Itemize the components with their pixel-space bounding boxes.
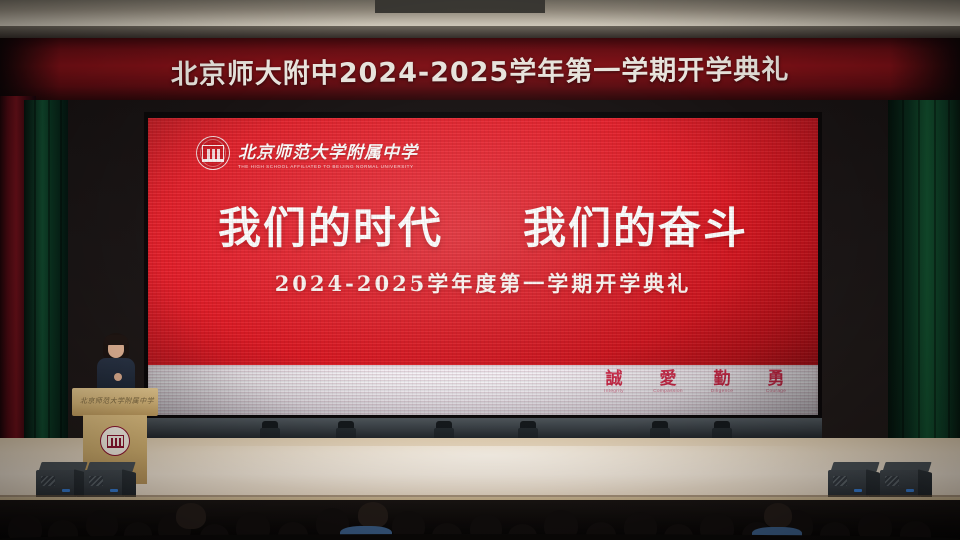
curtain-fold — [34, 100, 36, 485]
audience-head — [358, 502, 388, 528]
speaker-led-indicator — [62, 489, 70, 492]
crest-gate-icon — [202, 145, 224, 162]
motto-char: 誠 — [606, 371, 623, 388]
motto-label: Courage — [766, 389, 787, 394]
audience-rows — [0, 500, 960, 540]
speaker-grill — [885, 476, 899, 486]
speaker-grill — [41, 476, 55, 486]
school-name-cn: 北京师范大学附属中学 — [238, 138, 418, 163]
welcome-banner-inner: 北京师大附中2024-2025学年第一学期开学典礼 — [50, 41, 910, 98]
screen-white-band: 誠 Integrity 愛 Compassion 勤 Diligence 勇 C… — [148, 365, 818, 415]
speaker-led-indicator — [110, 489, 118, 492]
motto-label: Integrity — [604, 389, 624, 394]
presenter-fringe — [104, 335, 128, 345]
banner-shadow-right — [890, 38, 960, 100]
welcome-banner: 北京师大附中2024-2025学年第一学期开学典礼 — [0, 38, 960, 100]
motto-char: 勤 — [714, 371, 731, 388]
auditorium-stage-photo: 北京师大附中2024-2025学年第一学期开学典礼 北京师范大学附属中学 THE… — [0, 0, 960, 540]
school-crest-icon — [100, 426, 130, 456]
speaker-grill — [833, 476, 847, 486]
school-name-en: THE HIGH SCHOOL AFFILIATED TO BEIJING NO… — [238, 164, 418, 169]
presenter-hand — [114, 373, 122, 381]
curtain-fold — [948, 100, 950, 495]
curtain-fold — [918, 100, 920, 495]
speaker-led-indicator — [854, 489, 862, 492]
curtain-fold — [902, 100, 904, 495]
headline-part-2: 我们的奋斗 — [523, 204, 748, 254]
audience-row-shadow — [0, 534, 960, 540]
podium-calligraphy: 北京师范大学附属中学 — [80, 396, 150, 408]
motto-char: 勇 — [768, 371, 785, 388]
curtain-fold — [48, 100, 50, 485]
motto-label: Compassion — [653, 389, 683, 394]
motto-item: 勇 Courage — [759, 371, 793, 394]
ceiling-vent — [375, 0, 545, 13]
motto-item: 誠 Integrity — [597, 371, 631, 394]
banner-shadow-left — [0, 38, 60, 100]
screen-headline: 我们的时代 我们的奋斗 — [148, 194, 818, 256]
motto-label: Diligence — [711, 389, 733, 394]
curtain-fold — [60, 100, 62, 485]
curtain-green-left — [24, 100, 68, 485]
screen-school-logo: 北京师范大学附属中学 THE HIGH SCHOOL AFFILIATED TO… — [196, 136, 418, 170]
school-motto: 誠 Integrity 愛 Compassion 勤 Diligence 勇 C… — [597, 371, 793, 394]
school-crest-icon — [196, 136, 230, 170]
screen-subtitle: 2024-2025学年度第一学期开学典礼 — [148, 268, 818, 298]
speaker-led-indicator — [906, 489, 914, 492]
headline-part-1: 我们的时代 — [218, 204, 443, 254]
audience-head — [764, 503, 792, 528]
curtain-fold — [934, 100, 936, 495]
school-logo-words: 北京师范大学附属中学 THE HIGH SCHOOL AFFILIATED TO… — [238, 138, 418, 169]
podium-top: 北京师范大学附属中学 — [72, 388, 158, 416]
speaker-grill — [89, 476, 103, 486]
curtain-green-right — [888, 100, 960, 495]
audience-head — [176, 503, 206, 529]
led-screen: 北京师范大学附属中学 THE HIGH SCHOOL AFFILIATED TO… — [148, 118, 818, 415]
motto-char: 愛 — [660, 371, 677, 388]
motto-item: 愛 Compassion — [651, 371, 685, 394]
presenter-figure — [95, 333, 137, 391]
audience-head — [86, 510, 118, 539]
motto-item: 勤 Diligence — [705, 371, 739, 394]
crest-gate-icon — [107, 435, 124, 448]
welcome-banner-text: 北京师大附中2024-2025学年第一学期开学典礼 — [171, 47, 790, 91]
